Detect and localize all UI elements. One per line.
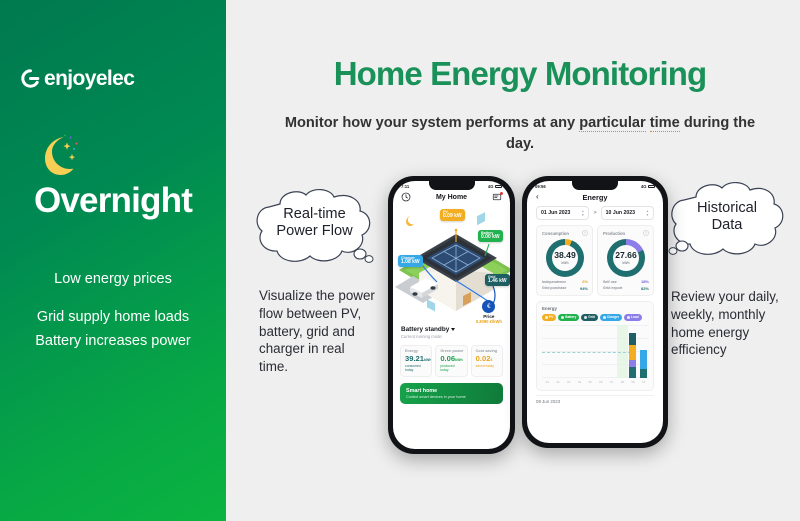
subtitle-highlight-time: time: [650, 115, 680, 132]
stat-name: Cost saving: [476, 349, 499, 353]
chart-footer-date: 08 Jun 2023: [527, 391, 663, 404]
chart-bar-stack: [597, 326, 604, 378]
chart-bar-column[interactable]: [617, 326, 628, 378]
stat-unit: kWh: [424, 358, 432, 362]
stat-value: 0.02: [476, 354, 491, 363]
price-value: 0.3090 €/kWh: [476, 319, 502, 324]
chart-bar-segment-charger: [640, 350, 647, 369]
status-indicators: 4G: [488, 184, 502, 189]
chart-bar-segment-load: [629, 360, 636, 367]
badge-grid[interactable]: Grid 1.46 kW: [485, 274, 510, 286]
donut-unit: kWh: [622, 261, 629, 265]
stat-row: Grid purchase94%: [542, 286, 588, 291]
stat-value: 82%: [641, 286, 649, 291]
stat-key: Self use: [603, 280, 617, 284]
donut-unit: kWh: [561, 261, 568, 265]
chart-x-tick: 10: [638, 380, 649, 384]
chart-title: Energy: [542, 306, 649, 311]
legend-dot-icon: [561, 316, 564, 319]
running-mode-block[interactable]: Battery standby Current running mode: [393, 326, 510, 339]
chart-x-tick: 01: [542, 380, 553, 384]
smart-home-title: Smart home: [406, 388, 497, 394]
chart-bar-column[interactable]: [596, 326, 607, 378]
card-production[interactable]: Production i 27.66 kWh Self use18% Grid …: [597, 225, 654, 296]
chart-bar-stack: [555, 326, 562, 378]
stat-name: Energy: [405, 349, 428, 353]
badge-value: 0.09 kW: [443, 214, 462, 219]
donut-value: 38.49: [554, 251, 576, 260]
stat-row: Self use18%: [603, 279, 649, 284]
stat-card-cost-saving[interactable]: Cost saving 0.02€ saved today: [471, 345, 503, 377]
crescent-moon-stars-icon: [31, 128, 83, 180]
legend-chip-battery[interactable]: Battery: [558, 314, 579, 321]
legend-label: Charger: [607, 315, 619, 319]
stat-value: 0.06: [440, 354, 455, 363]
legend-chip-load[interactable]: Load: [624, 314, 642, 321]
card-title: Consumption: [542, 231, 569, 236]
power-flow-diagram[interactable]: PV 0.09 kW Battery 0.00 kW Charger 1.08 …: [393, 204, 510, 326]
stat-value: 94%: [580, 286, 588, 291]
legend-label: Load: [631, 315, 639, 319]
badge-battery[interactable]: Battery 0.00 kW: [478, 230, 503, 242]
chart-x-tick: 05: [585, 380, 596, 384]
status-time: 7:11: [401, 184, 409, 189]
badge-label: Battery: [481, 232, 500, 236]
date-from-value: 01 Jun 2023: [541, 210, 570, 216]
badge-label: Grid: [488, 276, 507, 280]
badge-label: Charger: [401, 257, 420, 261]
overnight-bullets: Low energy prices Grid supply home loads…: [0, 272, 226, 350]
date-to-value: 10 Jun 2023: [606, 210, 635, 216]
chart-bar-stack: [587, 326, 594, 378]
caption-realtime: Visualize the power flow between PV, bat…: [259, 287, 375, 376]
chart-bar-stack: [565, 326, 572, 378]
badge-value: 1.46 kW: [488, 279, 507, 284]
chart-bar-column[interactable]: [542, 326, 553, 378]
footer-date-value: 08 Jun 2023: [536, 395, 654, 404]
phone-mockup-my-home: 7:11 4G My Home: [388, 176, 515, 454]
chart-bar-column[interactable]: [638, 326, 649, 378]
info-icon[interactable]: i: [582, 230, 588, 236]
chart-bar-stack: [640, 326, 647, 378]
chart-x-tick: 02: [553, 380, 564, 384]
chart-x-tick: 08: [617, 380, 628, 384]
stepper-icon[interactable]: ▲▼: [646, 210, 649, 216]
legend-chip-pv[interactable]: PV: [542, 314, 556, 321]
page-title: Energy: [527, 193, 663, 202]
page-subtitle: Monitor how your system performs at any …: [272, 113, 768, 154]
chart-bar-stack: [544, 326, 551, 378]
smart-home-banner[interactable]: Smart home Control smart devices in your…: [400, 383, 503, 404]
date-from-input[interactable]: 01 Jun 2023 ▲▼: [536, 206, 589, 220]
stat-value: 18%: [641, 279, 649, 284]
bubble-line-2: Power Flow: [252, 223, 377, 240]
app-nav-bar: ‹ Energy: [527, 190, 663, 204]
bubble-line-2: Data: [668, 217, 786, 234]
phone-notch: [572, 181, 618, 190]
donut-production: 27.66 kWh: [607, 239, 645, 277]
bullet-item: Low energy prices: [0, 272, 226, 287]
legend-dot-icon: [584, 316, 587, 319]
chart-bar-stack: [608, 326, 615, 378]
my-home-screen: 7:11 4G My Home: [393, 181, 510, 449]
news-icon[interactable]: [492, 192, 502, 202]
page-title: Home Energy Monitoring: [240, 56, 800, 92]
donut-consumption: 38.49 kWh: [546, 239, 584, 277]
chevron-down-icon[interactable]: [451, 328, 455, 331]
chart-bar-column[interactable]: [585, 326, 596, 378]
status-network: 4G: [488, 184, 494, 189]
chart-bar-segment-battery: [629, 367, 636, 377]
stat-cards: Energy 39.21kWh consumed today Green pow…: [393, 339, 510, 377]
chart-x-tick: 06: [596, 380, 607, 384]
legend-label: PV: [549, 315, 553, 319]
chart-bar-stack: [619, 326, 626, 378]
callout-bubble-realtime: Real-time Power Flow: [252, 186, 377, 268]
legend-dot-icon: [603, 316, 606, 319]
legend-label: Grid: [588, 315, 595, 319]
legend-dot-icon: [627, 316, 630, 319]
enjoyelec-logo-icon: [20, 68, 41, 89]
bubble-line-1: Real-time: [252, 206, 377, 223]
left-green-panel: enjoyelec Overnight Low energy prices Gr…: [0, 0, 226, 521]
legend-chip-charger[interactable]: Charger: [600, 314, 622, 321]
chart-bar-column[interactable]: [574, 326, 585, 378]
info-icon[interactable]: i: [643, 230, 649, 236]
bullet-item: Grid supply home loads: [0, 310, 226, 325]
stat-note: saved today: [476, 364, 499, 368]
bubble-text: Real-time Power Flow: [252, 206, 377, 240]
subtitle-part1: Monitor how your system performs at any: [285, 115, 579, 131]
stat-card-energy[interactable]: Energy 39.21kWh consumed today: [400, 345, 432, 377]
battery-icon: [495, 185, 502, 189]
stat-value: 6%: [582, 279, 588, 284]
stat-name: Green power: [440, 349, 463, 353]
brand-logo-text: enjoyelec: [44, 68, 134, 89]
bullet-item: Battery increases power: [0, 334, 226, 349]
chart-bar-stack: [576, 326, 583, 378]
clock-icon[interactable]: [401, 192, 411, 202]
stat-key: Independence: [542, 280, 566, 284]
overnight-title: Overnight: [0, 181, 226, 221]
badge-label: PV: [443, 211, 462, 215]
phone-mockup-energy: 09:56 4G ‹ Energy 01 Jun 2023 ▲▼ > 10 Ju…: [522, 176, 668, 448]
stat-note: consumed today: [405, 364, 428, 372]
badge-charger[interactable]: Charger 1.08 kW: [398, 255, 423, 267]
brand-logo: enjoyelec: [20, 68, 134, 89]
bubble-text: Historical Data: [668, 200, 786, 234]
app-nav-bar: My Home: [393, 190, 510, 204]
legend-chip-grid[interactable]: Grid: [581, 314, 598, 321]
caption-historical: Review your daily, weekly, monthly home …: [671, 288, 793, 359]
euro-coin-icon: €: [482, 300, 495, 313]
price-indicator[interactable]: € Price 0.3090 €/kWh: [476, 300, 502, 324]
legend-label: Battery: [565, 315, 576, 319]
status-network: 4G: [641, 184, 647, 189]
page-title: My Home: [436, 194, 467, 201]
date-range-selector: 01 Jun 2023 ▲▼ > 10 Jun 2023 ▲▼: [527, 204, 663, 220]
badge-value: 0.00 kW: [481, 235, 500, 240]
smart-home-subtitle: Control smart devices in your home: [406, 395, 497, 399]
chart-bar-stack: [629, 326, 636, 378]
summary-cards: Consumption i 38.49 kWh Independence6% G…: [527, 220, 663, 296]
stat-row: Independence6%: [542, 279, 588, 284]
stat-unit: €: [490, 358, 492, 362]
stat-unit: kWh: [455, 358, 463, 362]
energy-chart-card: Energy PVBatteryGridChargerLoad 01020304…: [536, 301, 654, 391]
chart-legend: PVBatteryGridChargerLoad: [542, 314, 649, 321]
chart-x-tick: 09: [628, 380, 639, 384]
battery-icon: [648, 185, 655, 189]
donut-value: 27.66: [615, 251, 637, 260]
legend-dot-icon: [545, 316, 548, 319]
date-to-input[interactable]: 10 Jun 2023 ▲▼: [601, 206, 654, 220]
chart-bar-column[interactable]: [563, 326, 574, 378]
stepper-icon[interactable]: ▲▼: [581, 210, 584, 216]
chart-bar-column[interactable]: [606, 326, 617, 378]
stat-card-green-power[interactable]: Green power 0.06kWh produced today: [435, 345, 467, 377]
poster-canvas: enjoyelec Overnight Low energy prices Gr…: [0, 0, 800, 521]
chart-bar-segment-grid: [629, 333, 636, 345]
card-title: Production: [603, 231, 625, 236]
badge-value: 1.08 kW: [401, 260, 420, 265]
chart-bar-segment-battery: [640, 369, 647, 378]
card-consumption[interactable]: Consumption i 38.49 kWh Independence6% G…: [536, 225, 593, 296]
stat-note: produced today: [440, 364, 463, 372]
chart-bar-segment-pv: [629, 345, 636, 360]
stat-value: 39.21: [405, 354, 424, 363]
status-time: 09:56: [535, 184, 546, 189]
stat-row: Grid export82%: [603, 286, 649, 291]
overnight-moon: [31, 128, 83, 180]
chart-bar-column[interactable]: [628, 326, 639, 378]
notification-dot: [500, 192, 503, 195]
energy-screen: 09:56 4G ‹ Energy 01 Jun 2023 ▲▼ > 10 Ju…: [527, 181, 663, 443]
date-separator: >: [593, 210, 596, 216]
chart-bars: [542, 326, 649, 378]
phone-notch: [429, 181, 475, 190]
chart-x-tick: 07: [606, 380, 617, 384]
badge-pv[interactable]: PV 0.09 kW: [440, 209, 465, 221]
stat-key: Grid purchase: [542, 286, 566, 290]
chart-x-tick: 04: [574, 380, 585, 384]
bubble-line-1: Historical: [668, 200, 786, 217]
chart-x-tick: 03: [563, 380, 574, 384]
running-mode-title: Battery standby: [401, 326, 449, 333]
status-indicators: 4G: [641, 184, 655, 189]
subtitle-highlight-particular: particular: [579, 115, 646, 132]
chart-x-axis: 01020304050607080910: [542, 378, 649, 387]
chart-bar-column[interactable]: [553, 326, 564, 378]
callout-bubble-historical: Historical Data: [668, 180, 786, 260]
stat-key: Grid export: [603, 286, 622, 290]
energy-bar-chart[interactable]: 01020304050607080910: [542, 325, 649, 387]
